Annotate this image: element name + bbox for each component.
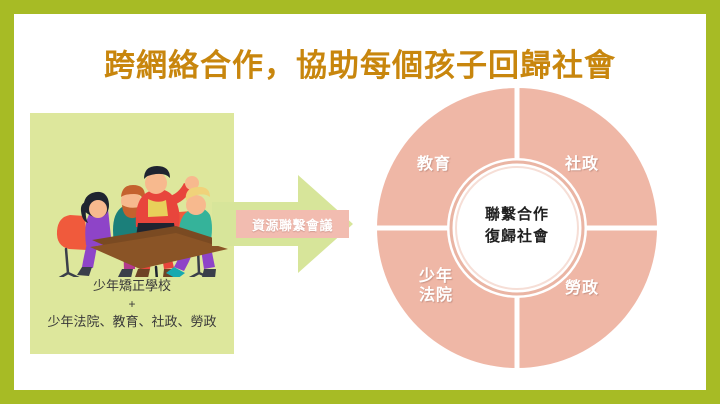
center-line-1: 聯繫合作 [369,204,665,226]
segment-label-court-line1: 少年 [419,268,453,287]
donut-center-text: 聯繫合作 復歸社會 [369,204,665,248]
arrow-label-text: 資源聯繫會議 [252,215,333,234]
page-title: 跨網絡合作，協助每個孩子回歸社會 [14,40,706,85]
process-arrow: 資源聯繫會議 [212,169,354,279]
segment-label-court-line2: 法院 [419,287,453,306]
meeting-illustration [30,127,234,277]
slide-frame: 跨網絡合作，協助每個孩子回歸社會 [14,14,706,390]
arrow-label-banner: 資源聯繫會議 [236,210,349,238]
caption-line-1: 少年矯正學校 [30,277,234,296]
center-line-2: 復歸社會 [369,226,665,248]
caption-plus-sign: + [30,296,234,313]
left-green-panel: 少年矯正學校 + 少年法院、教育、社政、勞政 [30,113,234,354]
segment-label-labor: 勞政 [565,280,599,299]
segment-label-court: 少年 法院 [419,268,453,306]
caption-line-2: 少年法院、教育、社政、勞政 [30,313,234,332]
panel-caption: 少年矯正學校 + 少年法院、教育、社政、勞政 [30,277,234,332]
segment-label-education: 教育 [417,156,451,175]
segment-label-social: 社政 [565,156,599,175]
donut-chart: 教育 社政 勞政 少年 法院 聯繫合作 復歸社會 [369,80,665,376]
